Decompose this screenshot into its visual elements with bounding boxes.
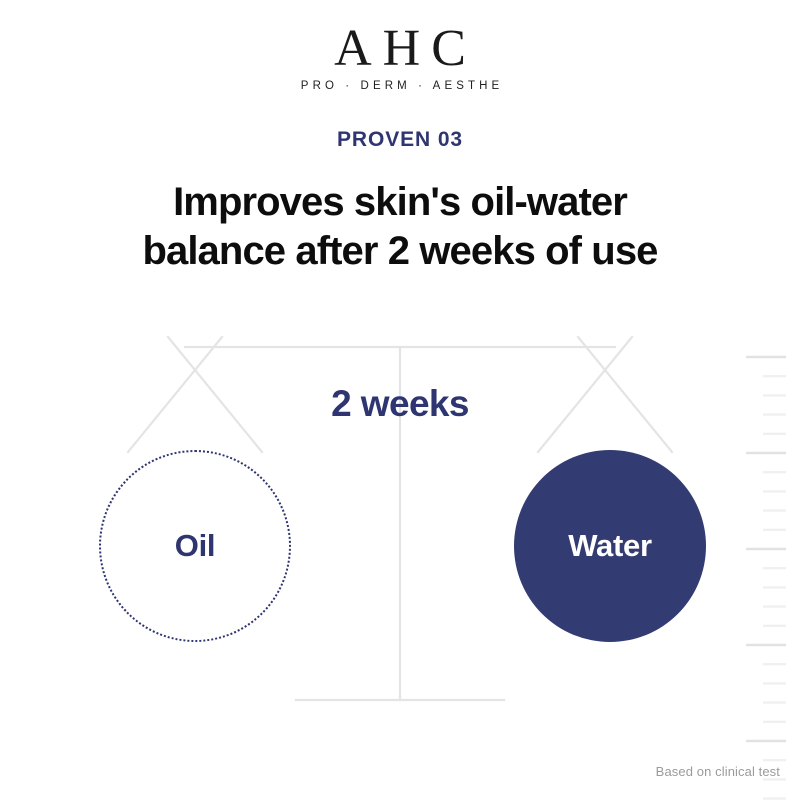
footnote-text: Based on clinical test [656, 764, 780, 779]
poster-canvas: AHC PRO · DERM · AESTHE PROVEN 03 Improv… [0, 0, 800, 800]
water-pan: Water [514, 450, 706, 642]
oil-pan: Oil [99, 450, 291, 642]
duration-label: 2 weeks [0, 383, 800, 425]
oil-pan-label: Oil [175, 528, 215, 564]
water-pan-label: Water [568, 528, 651, 564]
